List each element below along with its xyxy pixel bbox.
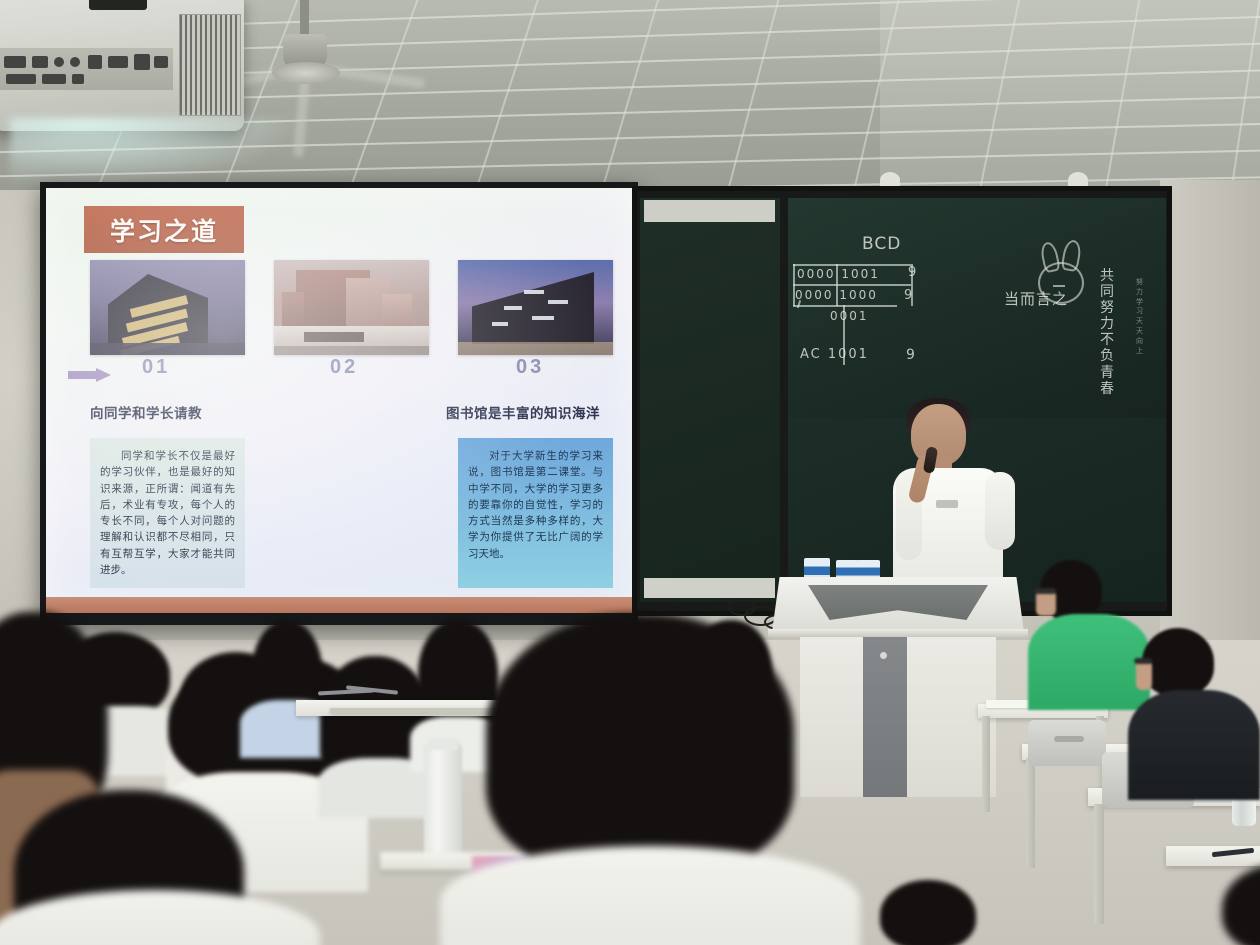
- student-hair: [486, 614, 794, 870]
- right-wall: [1160, 180, 1260, 660]
- slide-title: 学习之道: [110, 212, 218, 248]
- blackboard-left-panel: [640, 198, 780, 602]
- podium-lock-icon: [880, 652, 887, 659]
- student-face: [1136, 660, 1152, 690]
- slide-number-02: 02: [330, 356, 358, 379]
- slide-image-1: [90, 260, 245, 355]
- projector-cable: [89, 0, 147, 10]
- chalk-heading-bcd: BCD: [862, 234, 901, 254]
- fan-hub: [272, 62, 340, 84]
- pointer-arrow-icon: [68, 368, 112, 381]
- desk-leg: [982, 716, 990, 812]
- ceiling-tile-line: [466, 0, 542, 200]
- presentation-slide: 学习之道: [46, 188, 632, 613]
- glasses-icon: [1134, 658, 1152, 664]
- chalk-chinese-text: 当而言之: [1004, 288, 1068, 309]
- chalk-digit-3: 9: [906, 347, 915, 363]
- chalk-row-2: 0000 1000: [795, 288, 878, 302]
- ceiling-tile-line: [719, 0, 782, 200]
- desk-leg: [1094, 804, 1104, 924]
- classroom-photo: 学习之道: [0, 0, 1260, 945]
- ceiling-tile-line: [592, 0, 662, 200]
- shirt-logo: [936, 500, 958, 508]
- projector-ports: [0, 48, 173, 90]
- student-shirt: [1128, 690, 1260, 800]
- paper: [986, 700, 1030, 708]
- glasses-icon: [1034, 588, 1056, 594]
- chalk-box: [804, 558, 830, 580]
- chalk-row-1: 0000 1001: [797, 267, 880, 281]
- slide-image-3: [458, 260, 613, 355]
- chair-back: [1028, 720, 1106, 766]
- slide-caption-1: 向同学和学长请教: [90, 402, 202, 422]
- student-shirt: [440, 846, 860, 945]
- chalk-row-3: 0001: [830, 309, 869, 323]
- thermos: [424, 742, 462, 866]
- blackboard-left-top-strip: [644, 200, 775, 222]
- slide-number-03: 03: [516, 356, 544, 379]
- projector: [0, 0, 244, 131]
- ceiling: [0, 0, 1260, 200]
- student-hair: [880, 880, 976, 945]
- projector-vent: [179, 14, 241, 116]
- chalk-row-4: AC 1001: [800, 347, 869, 362]
- slide-image-2: [274, 260, 429, 355]
- slide-caption-3: 图书馆是丰富的知识海洋: [446, 402, 600, 422]
- thermos-cap: [428, 738, 458, 750]
- student-shirt: [1028, 614, 1150, 710]
- slide-textbox-1: 同学和学长不仅是最好的学习伙伴，也是最好的知识来源，正所谓：闻道有先后，术业有专…: [90, 438, 245, 588]
- student-hair: [1142, 628, 1214, 696]
- desk-leg: [1026, 758, 1035, 868]
- chalk-small-vertical-text: 努力学习天天向上: [1136, 278, 1144, 356]
- slide-bottom-band: [46, 597, 632, 613]
- chalk-vertical-text: 共同努力不负青春: [1100, 268, 1120, 397]
- presenter-arm-right: [985, 472, 1015, 550]
- slide-textbox-3: 对于大学新生的学习来说，图书馆是第二课堂。与中学不同，大学的学习更多的要靠你的自…: [458, 438, 613, 588]
- blackboard-left-bottom-strip: [644, 578, 775, 598]
- projector-light-beam: [10, 118, 310, 188]
- podium-lip: [768, 629, 1028, 637]
- slide-title-banner: 学习之道: [84, 206, 244, 253]
- chalk-digit-1: 9: [908, 265, 916, 280]
- podium-cabinet-door: [863, 637, 907, 797]
- chalk-digit-2: 9: [904, 288, 912, 303]
- chair-handle: [1054, 736, 1084, 742]
- slide-number-01: 01: [142, 356, 170, 379]
